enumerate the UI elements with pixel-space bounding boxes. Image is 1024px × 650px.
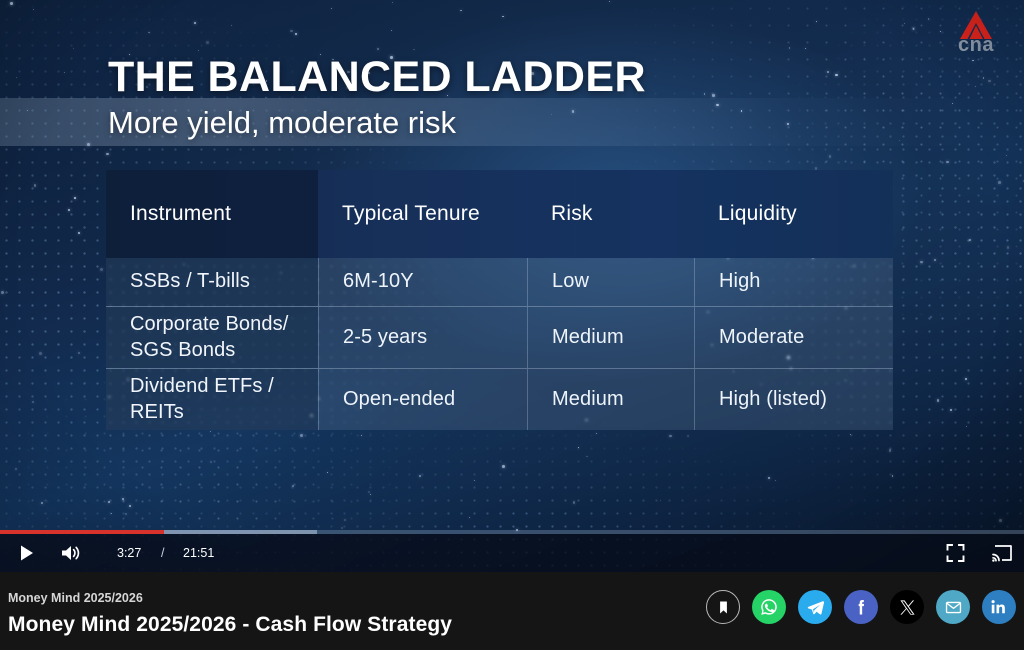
telegram-button[interactable] (798, 590, 832, 624)
bookmark-icon (715, 599, 732, 616)
cell-tenure: 6M-10Y (318, 258, 527, 306)
controls-bar: 3:27 / 21:51 (0, 534, 1024, 572)
cast-icon (992, 544, 1013, 562)
bookmark-button[interactable] (706, 590, 740, 624)
cell-instrument: Dividend ETFs /REITs (106, 369, 318, 430)
cast-button[interactable] (992, 544, 1013, 562)
cell-risk: Low (527, 258, 694, 306)
series-name: Money Mind 2025/2026 (8, 591, 143, 605)
linkedin-button[interactable] (982, 590, 1016, 624)
cell-liquidity: High (listed) (694, 369, 893, 430)
email-button[interactable] (936, 590, 970, 624)
table-header-risk: Risk (527, 202, 694, 226)
slide-title: THE BALANCED LADDER (108, 56, 646, 99)
video-meta: Money Mind 2025/2026 Money Mind 2025/202… (0, 572, 1024, 650)
total-time: 21:51 (183, 546, 214, 560)
share-buttons (706, 590, 1016, 624)
whatsapp-button[interactable] (752, 590, 786, 624)
email-icon (944, 598, 963, 617)
play-icon (18, 544, 36, 562)
slide-subtitle: More yield, moderate risk (108, 104, 456, 143)
table-body: SSBs / T-bills 6M-10Y Low High Corporate… (106, 258, 893, 430)
player-controls: 3:27 / 21:51 (0, 530, 1024, 572)
fullscreen-button[interactable] (946, 544, 965, 563)
comparison-table: Instrument Typical Tenure Risk Liquidity… (106, 170, 893, 430)
cell-liquidity: High (694, 258, 893, 306)
table-header-instrument: Instrument (106, 170, 318, 258)
volume-icon (60, 543, 82, 563)
facebook-button[interactable] (844, 590, 878, 624)
cell-risk: Medium (527, 369, 694, 430)
video-player-surface[interactable]: cna THE BALANCED LADDER More yield, mode… (0, 0, 1024, 572)
x-icon (899, 599, 916, 616)
play-button[interactable] (18, 544, 36, 562)
time-separator: / (161, 546, 164, 560)
cell-tenure: Open-ended (318, 369, 527, 430)
table-row: Corporate Bonds/SGS Bonds 2-5 years Medi… (106, 306, 893, 368)
cell-instrument: SSBs / T-bills (106, 258, 318, 306)
table-header-liquidity: Liquidity (694, 202, 893, 226)
cell-liquidity: Moderate (694, 307, 893, 368)
x-button[interactable] (890, 590, 924, 624)
table-row: SSBs / T-bills 6M-10Y Low High (106, 258, 893, 306)
telegram-icon (806, 598, 825, 617)
video-page: cna THE BALANCED LADDER More yield, mode… (0, 0, 1024, 650)
cell-risk: Medium (527, 307, 694, 368)
volume-button[interactable] (60, 543, 82, 563)
cna-logo: cna (950, 10, 1002, 58)
cell-tenure: 2-5 years (318, 307, 527, 368)
linkedin-icon (989, 597, 1009, 617)
table-header-tenure: Typical Tenure (318, 202, 527, 226)
cell-instrument: Corporate Bonds/SGS Bonds (106, 307, 318, 368)
whatsapp-icon (759, 597, 779, 617)
table-header-row: Instrument Typical Tenure Risk Liquidity (106, 170, 893, 258)
cna-wordmark: cna (950, 35, 1002, 55)
current-time: 3:27 (117, 546, 141, 560)
fullscreen-icon (946, 544, 965, 563)
facebook-icon (851, 597, 871, 617)
episode-title: Money Mind 2025/2026 - Cash Flow Strateg… (8, 613, 452, 637)
table-row: Dividend ETFs /REITs Open-ended Medium H… (106, 368, 893, 430)
